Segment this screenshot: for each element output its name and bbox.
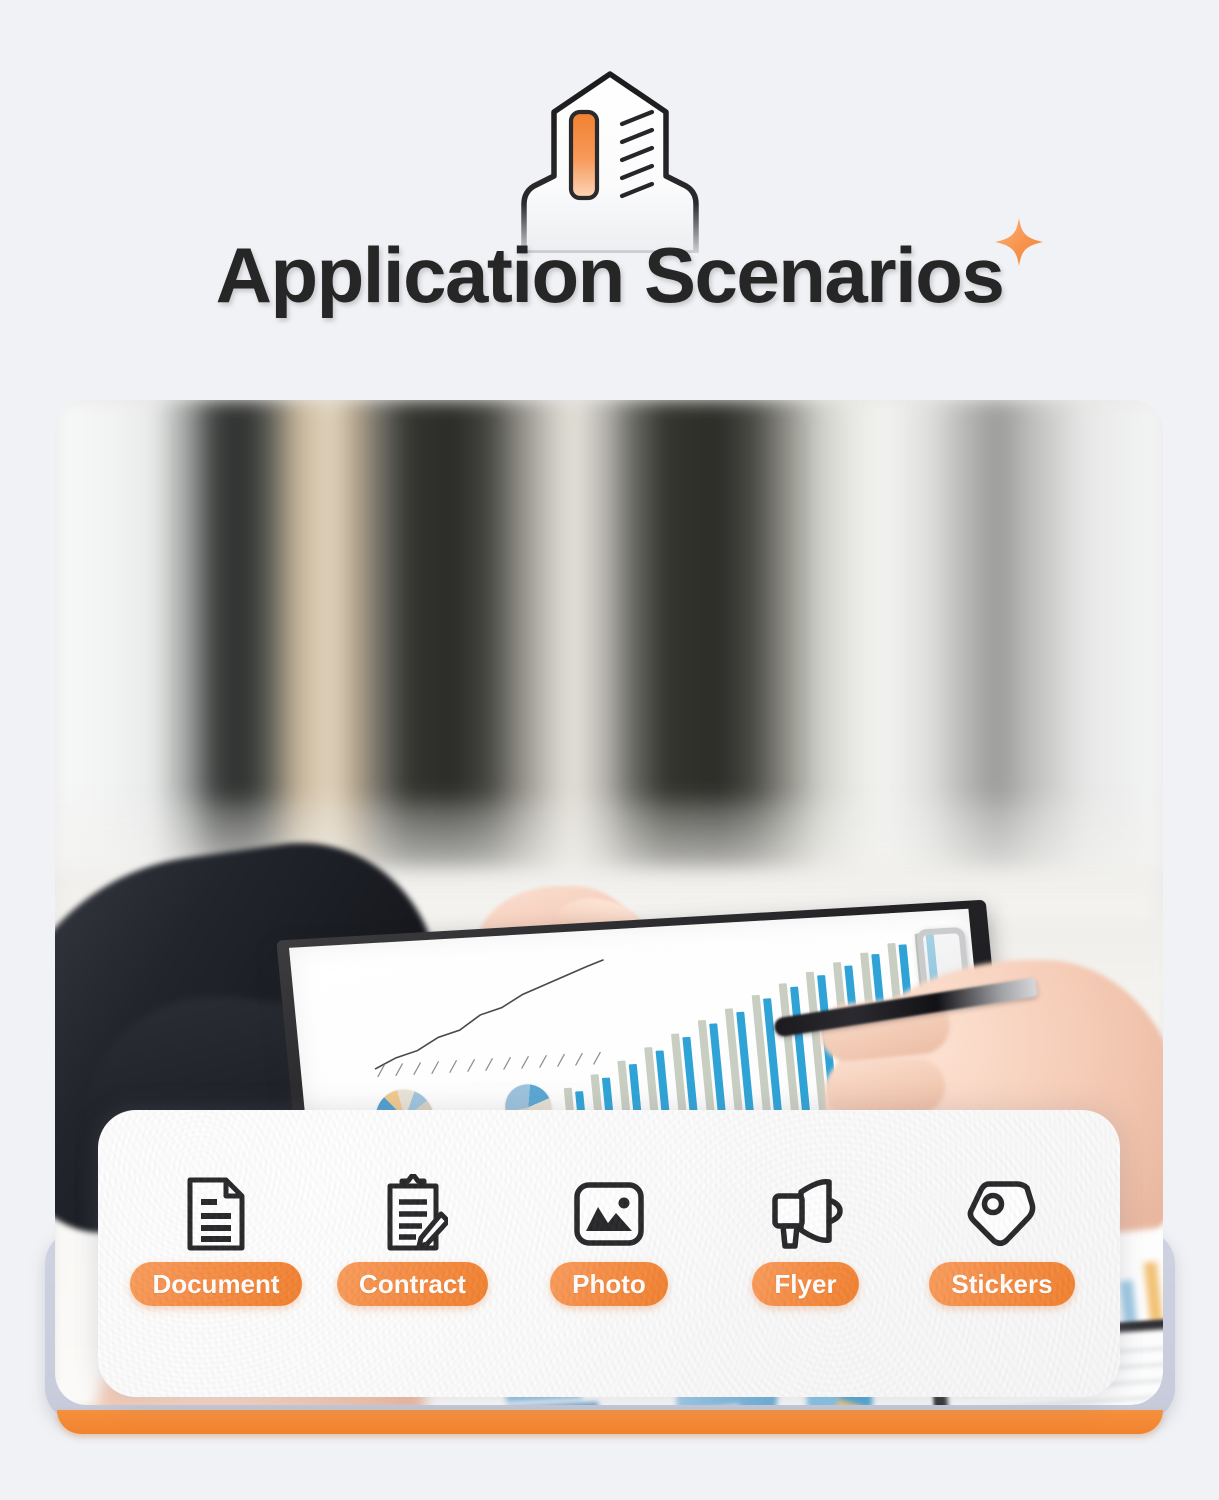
- badge-label-stickers[interactable]: Stickers: [929, 1262, 1074, 1306]
- page-title: Application Scenarios: [216, 231, 1004, 319]
- clipboard-pencil-icon: [378, 1172, 448, 1256]
- building-skyscraper-icon: [490, 68, 730, 253]
- sparkle-icon: [991, 214, 1047, 270]
- document-icon: [184, 1172, 248, 1256]
- image-icon: [572, 1172, 646, 1256]
- badge-item-photo[interactable]: Photo: [521, 1172, 697, 1306]
- card-accent-bar: [57, 1410, 1163, 1434]
- badge-label-photo[interactable]: Photo: [550, 1262, 668, 1306]
- scenario-badges-row: Document Contract: [98, 1172, 1120, 1306]
- tag-icon: [965, 1172, 1039, 1256]
- page-header: Application Scenarios: [0, 0, 1219, 392]
- badge-item-stickers[interactable]: Stickers: [914, 1172, 1090, 1306]
- badge-label-document[interactable]: Document: [130, 1262, 301, 1306]
- badge-item-flyer[interactable]: Flyer: [718, 1172, 894, 1306]
- badge-label-contract[interactable]: Contract: [337, 1262, 488, 1306]
- badge-item-document[interactable]: Document: [128, 1172, 304, 1306]
- badge-item-contract[interactable]: Contract: [325, 1172, 501, 1306]
- badge-label-flyer[interactable]: Flyer: [752, 1262, 858, 1306]
- page-title-row: Application Scenarios: [0, 236, 1219, 314]
- megaphone-icon: [767, 1172, 845, 1256]
- scenario-badges-panel: Document Contract: [98, 1110, 1120, 1397]
